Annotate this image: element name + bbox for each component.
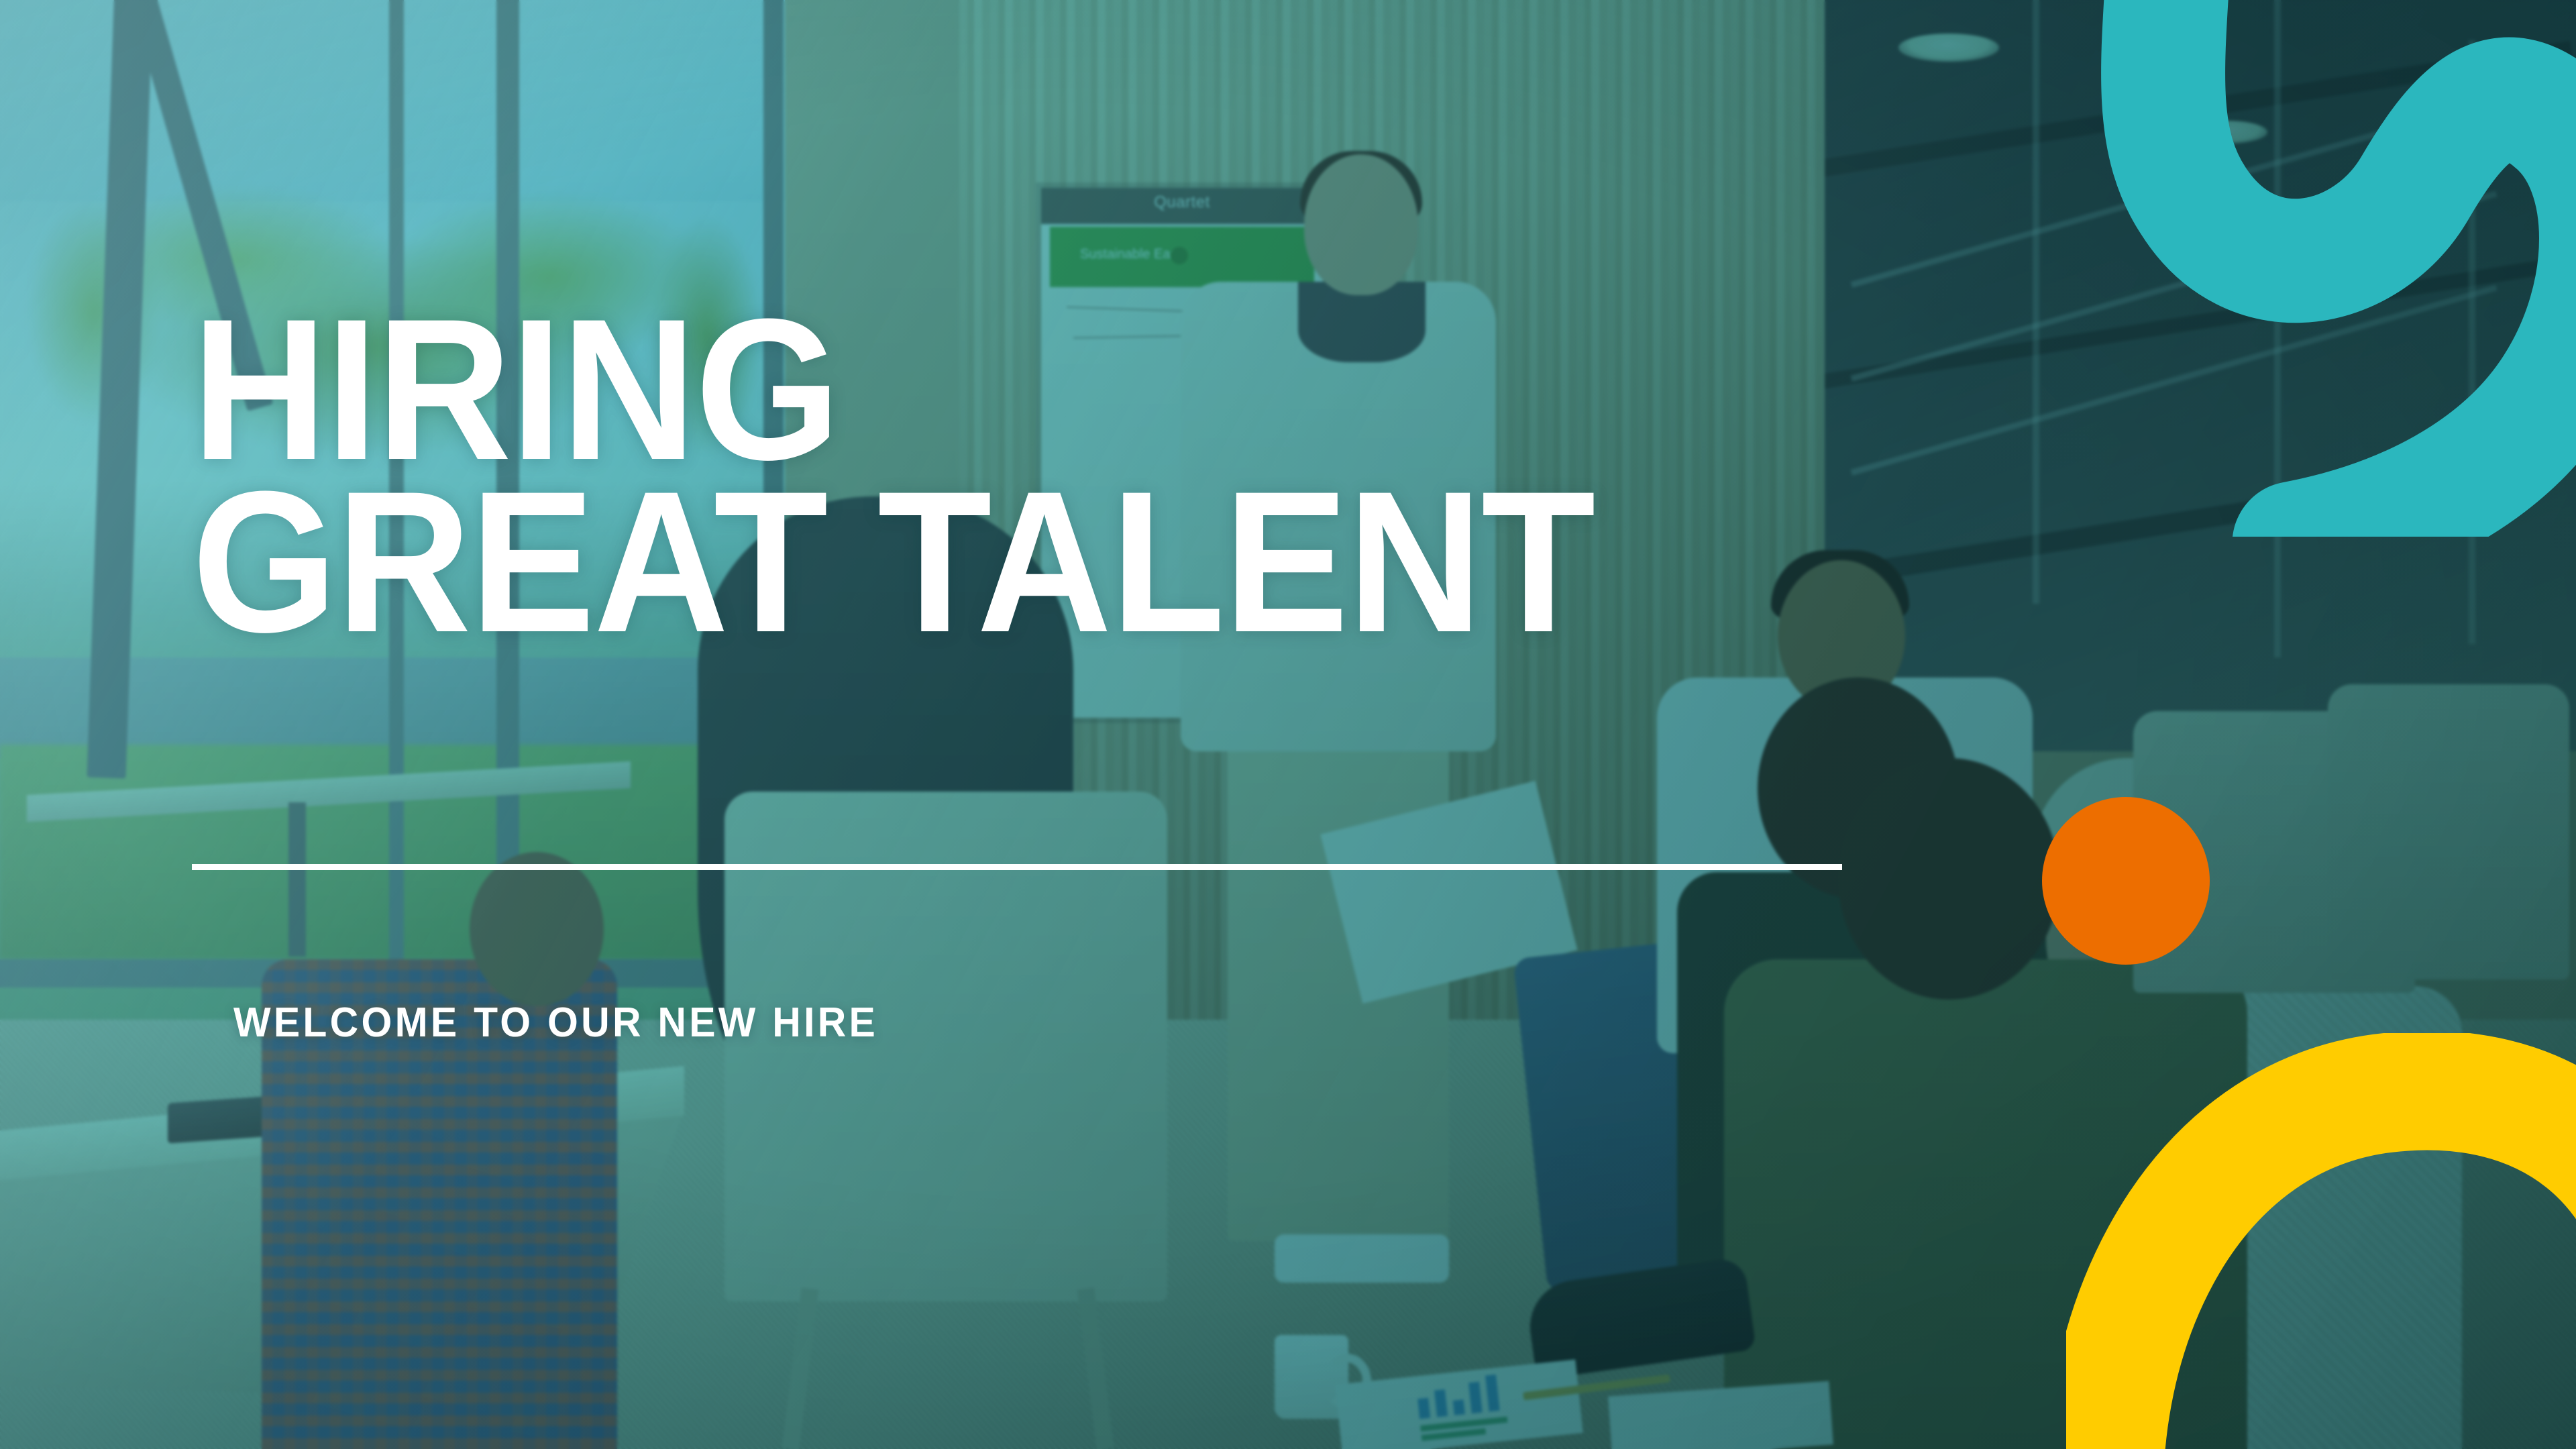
subheadline: WELCOME TO OUR NEW HIRE [233,999,878,1046]
poster-canvas: Quartet Sustainable Earth [0,0,2576,1449]
headline-divider [192,864,1842,870]
page-title: HIRING GREAT TALENT [192,303,1595,647]
poster-content: HIRING GREAT TALENT WELCOME TO OUR NEW H… [0,0,2576,1449]
